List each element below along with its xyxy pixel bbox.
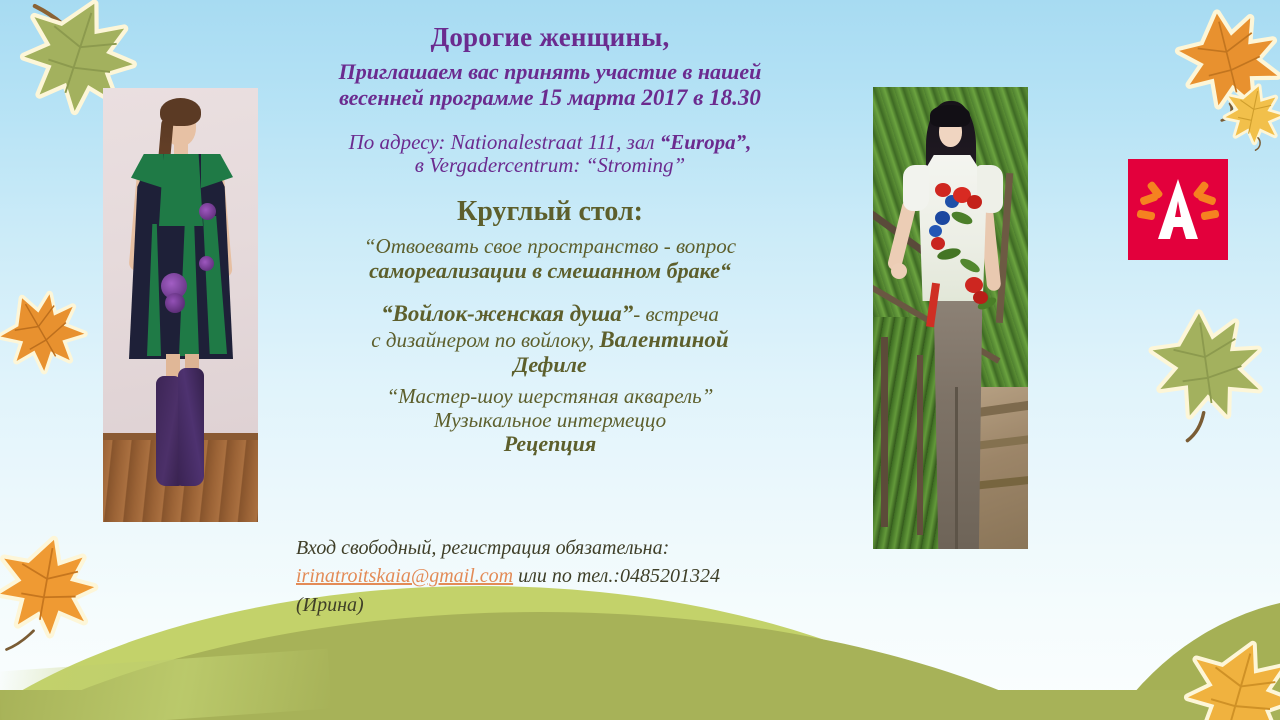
- event-date: 15 марта 2017 в 18.30: [539, 85, 761, 110]
- photo-right-blue-flower-3: [929, 225, 942, 237]
- roundtable-quote-line-1: “Отвоевать свое пространство - вопрос: [282, 235, 818, 259]
- address-hall-name: “Europa”,: [660, 130, 752, 154]
- footer-registration-note: Вход свободный, регистрация обязательна:: [296, 534, 856, 562]
- address-line-1: По адресу: Nationalestraat 111, зал “Eur…: [282, 131, 818, 155]
- felt-designer-name: Валентиной: [599, 327, 728, 352]
- photo-right-poppy-3: [967, 195, 982, 209]
- antwerpen-logo: [1128, 159, 1228, 260]
- maple-leaf-orange-left-icon: [0, 288, 84, 374]
- photo-left-flower-2: [165, 293, 185, 313]
- photo-left-boot-right: [178, 368, 204, 486]
- photo-right-poppy-1: [935, 183, 951, 197]
- photo-right-railing-post-2: [917, 355, 923, 535]
- invite-line-1: Приглашаем вас принять участие в нашей: [282, 60, 818, 85]
- photo-right-blue-flower-2: [935, 211, 950, 225]
- invite-line-2-prefix: весенней программе: [339, 85, 533, 110]
- maple-leaf-green-right-icon: [1148, 306, 1264, 422]
- maple-leaf-yellow-top-right-small-icon: [1222, 82, 1280, 144]
- photo-model-felted-dress: [103, 88, 258, 522]
- photo-right-bangs: [930, 105, 970, 127]
- photo-right-railing-post-1: [881, 337, 888, 527]
- poster-footer-contacts: Вход свободный, регистрация обязательна:…: [296, 534, 856, 619]
- invite-line-2: весенней программе 15 марта 2017 в 18.30: [282, 85, 818, 111]
- photo-left-dress-bodice: [159, 154, 203, 226]
- poster-canvas: Дорогие женщины, Приглашаем вас принять …: [0, 0, 1280, 720]
- felt-title: “Войлок-женская душа”: [381, 301, 633, 326]
- photo-left-flower-4: [199, 256, 214, 271]
- footer-contact-name: (Ирина): [296, 591, 856, 619]
- photo-right-sleeve-left: [903, 165, 929, 211]
- contact-phone: или по тел.:0485201324: [513, 565, 720, 587]
- roundtable-quote-line-2-text: самореализации в смешанном браке“: [369, 258, 731, 283]
- photo-right-poppy-4: [931, 237, 945, 250]
- hill-light-streak: [0, 649, 332, 720]
- photo-model-felted-blouse: [873, 87, 1028, 549]
- photo-right-trousers: [929, 295, 987, 549]
- felt-designer-line: с дизайнером по войлоку, Валентиной: [282, 327, 818, 353]
- address-line-2: в Vergadercentrum: “Stroming”: [282, 154, 818, 178]
- poster-text-column: Дорогие женщины, Приглашаем вас принять …: [282, 22, 818, 457]
- felt-designer-prefix: с дизайнером по войлоку,: [371, 328, 594, 352]
- roundtable-title: Круглый стол:: [282, 196, 818, 227]
- photo-left-flower-3: [199, 203, 216, 220]
- felt-title-line: “Войлок-женская душа”- встреча: [282, 301, 818, 327]
- program-reception: Рецепция: [282, 432, 818, 457]
- photo-right-trousers-seam: [955, 387, 958, 549]
- footer-contact-line: irinatroitskaia@gmail.com или по тел.:04…: [296, 562, 856, 590]
- roundtable-quote-line-2: самореализации в смешанном браке“: [282, 259, 818, 284]
- photo-right-poppy-6: [973, 291, 988, 304]
- program-masterclass: “Мастер-шоу шерстяная акварель”: [282, 385, 818, 409]
- felt-defile: Дефиле: [282, 353, 818, 378]
- address-line-1-prefix: По адресу: Nationalestraat 111, зал: [349, 130, 655, 154]
- maple-leaf-orange-bottom-left-icon: [0, 530, 98, 640]
- photo-right-hand: [891, 263, 907, 279]
- poster-headline: Дорогие женщины,: [282, 22, 818, 52]
- felt-title-suffix: - встреча: [633, 302, 719, 326]
- program-intermezzo: Музыкальное интермеццо: [282, 409, 818, 433]
- maple-leaf-yellow-bottom-right-icon: [1182, 636, 1280, 720]
- photo-right-sleeve-right: [977, 165, 1003, 213]
- contact-email-link[interactable]: irinatroitskaia@gmail.com: [296, 565, 513, 587]
